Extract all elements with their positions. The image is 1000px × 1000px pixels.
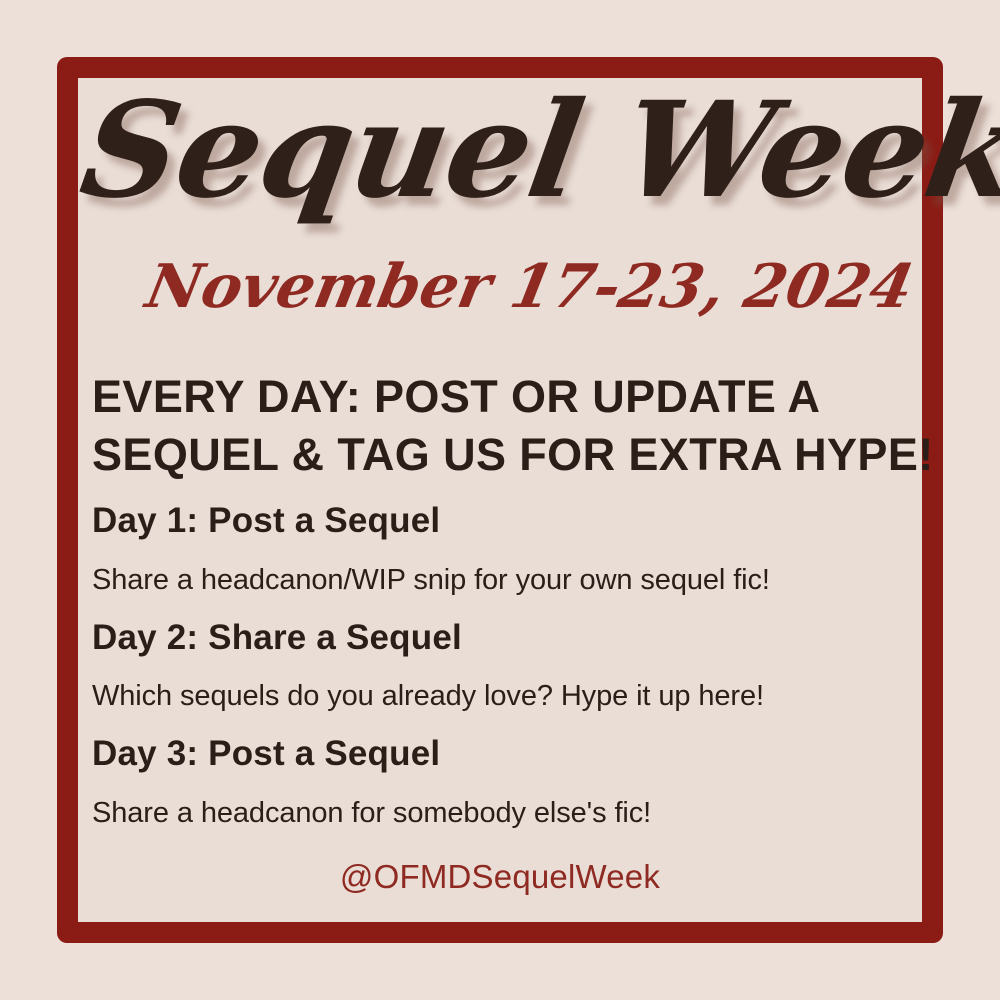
day-1-description: Share a headcanon/WIP snip for your own … [92,561,912,600]
event-date-range: November 17-23, 2024 [72,256,922,319]
social-handle: @OFMDSequelWeek [78,858,922,896]
headline-line-2: SEQUEL & TAG US FOR EXTRA HYPE! [92,426,902,484]
day-3-description: Share a headcanon for somebody else's fi… [92,794,912,833]
day-1-title: Day 1: Post a Sequel [92,498,912,544]
poster-content: Sequel Week November 17-23, 2024 EVERY D… [78,78,922,922]
headline: EVERY DAY: POST OR UPDATE A SEQUEL & TAG… [92,368,902,483]
day-item-3: Day 3: Post a Sequel Share a headcanon f… [92,731,912,833]
day-item-1: Day 1: Post a Sequel Share a headcanon/W… [92,498,912,600]
event-title: Sequel Week [73,82,933,221]
day-list: Day 1: Post a Sequel Share a headcanon/W… [92,498,912,848]
day-2-title: Day 2: Share a Sequel [92,615,912,661]
day-item-2: Day 2: Share a Sequel Which sequels do y… [92,615,912,717]
headline-line-1: EVERY DAY: POST OR UPDATE A [92,368,902,426]
day-3-title: Day 3: Post a Sequel [92,731,912,777]
poster-canvas: Sequel Week November 17-23, 2024 EVERY D… [0,0,1000,1000]
title-block: Sequel Week November 17-23, 2024 [78,78,922,333]
day-2-description: Which sequels do you already love? Hype … [92,677,912,716]
